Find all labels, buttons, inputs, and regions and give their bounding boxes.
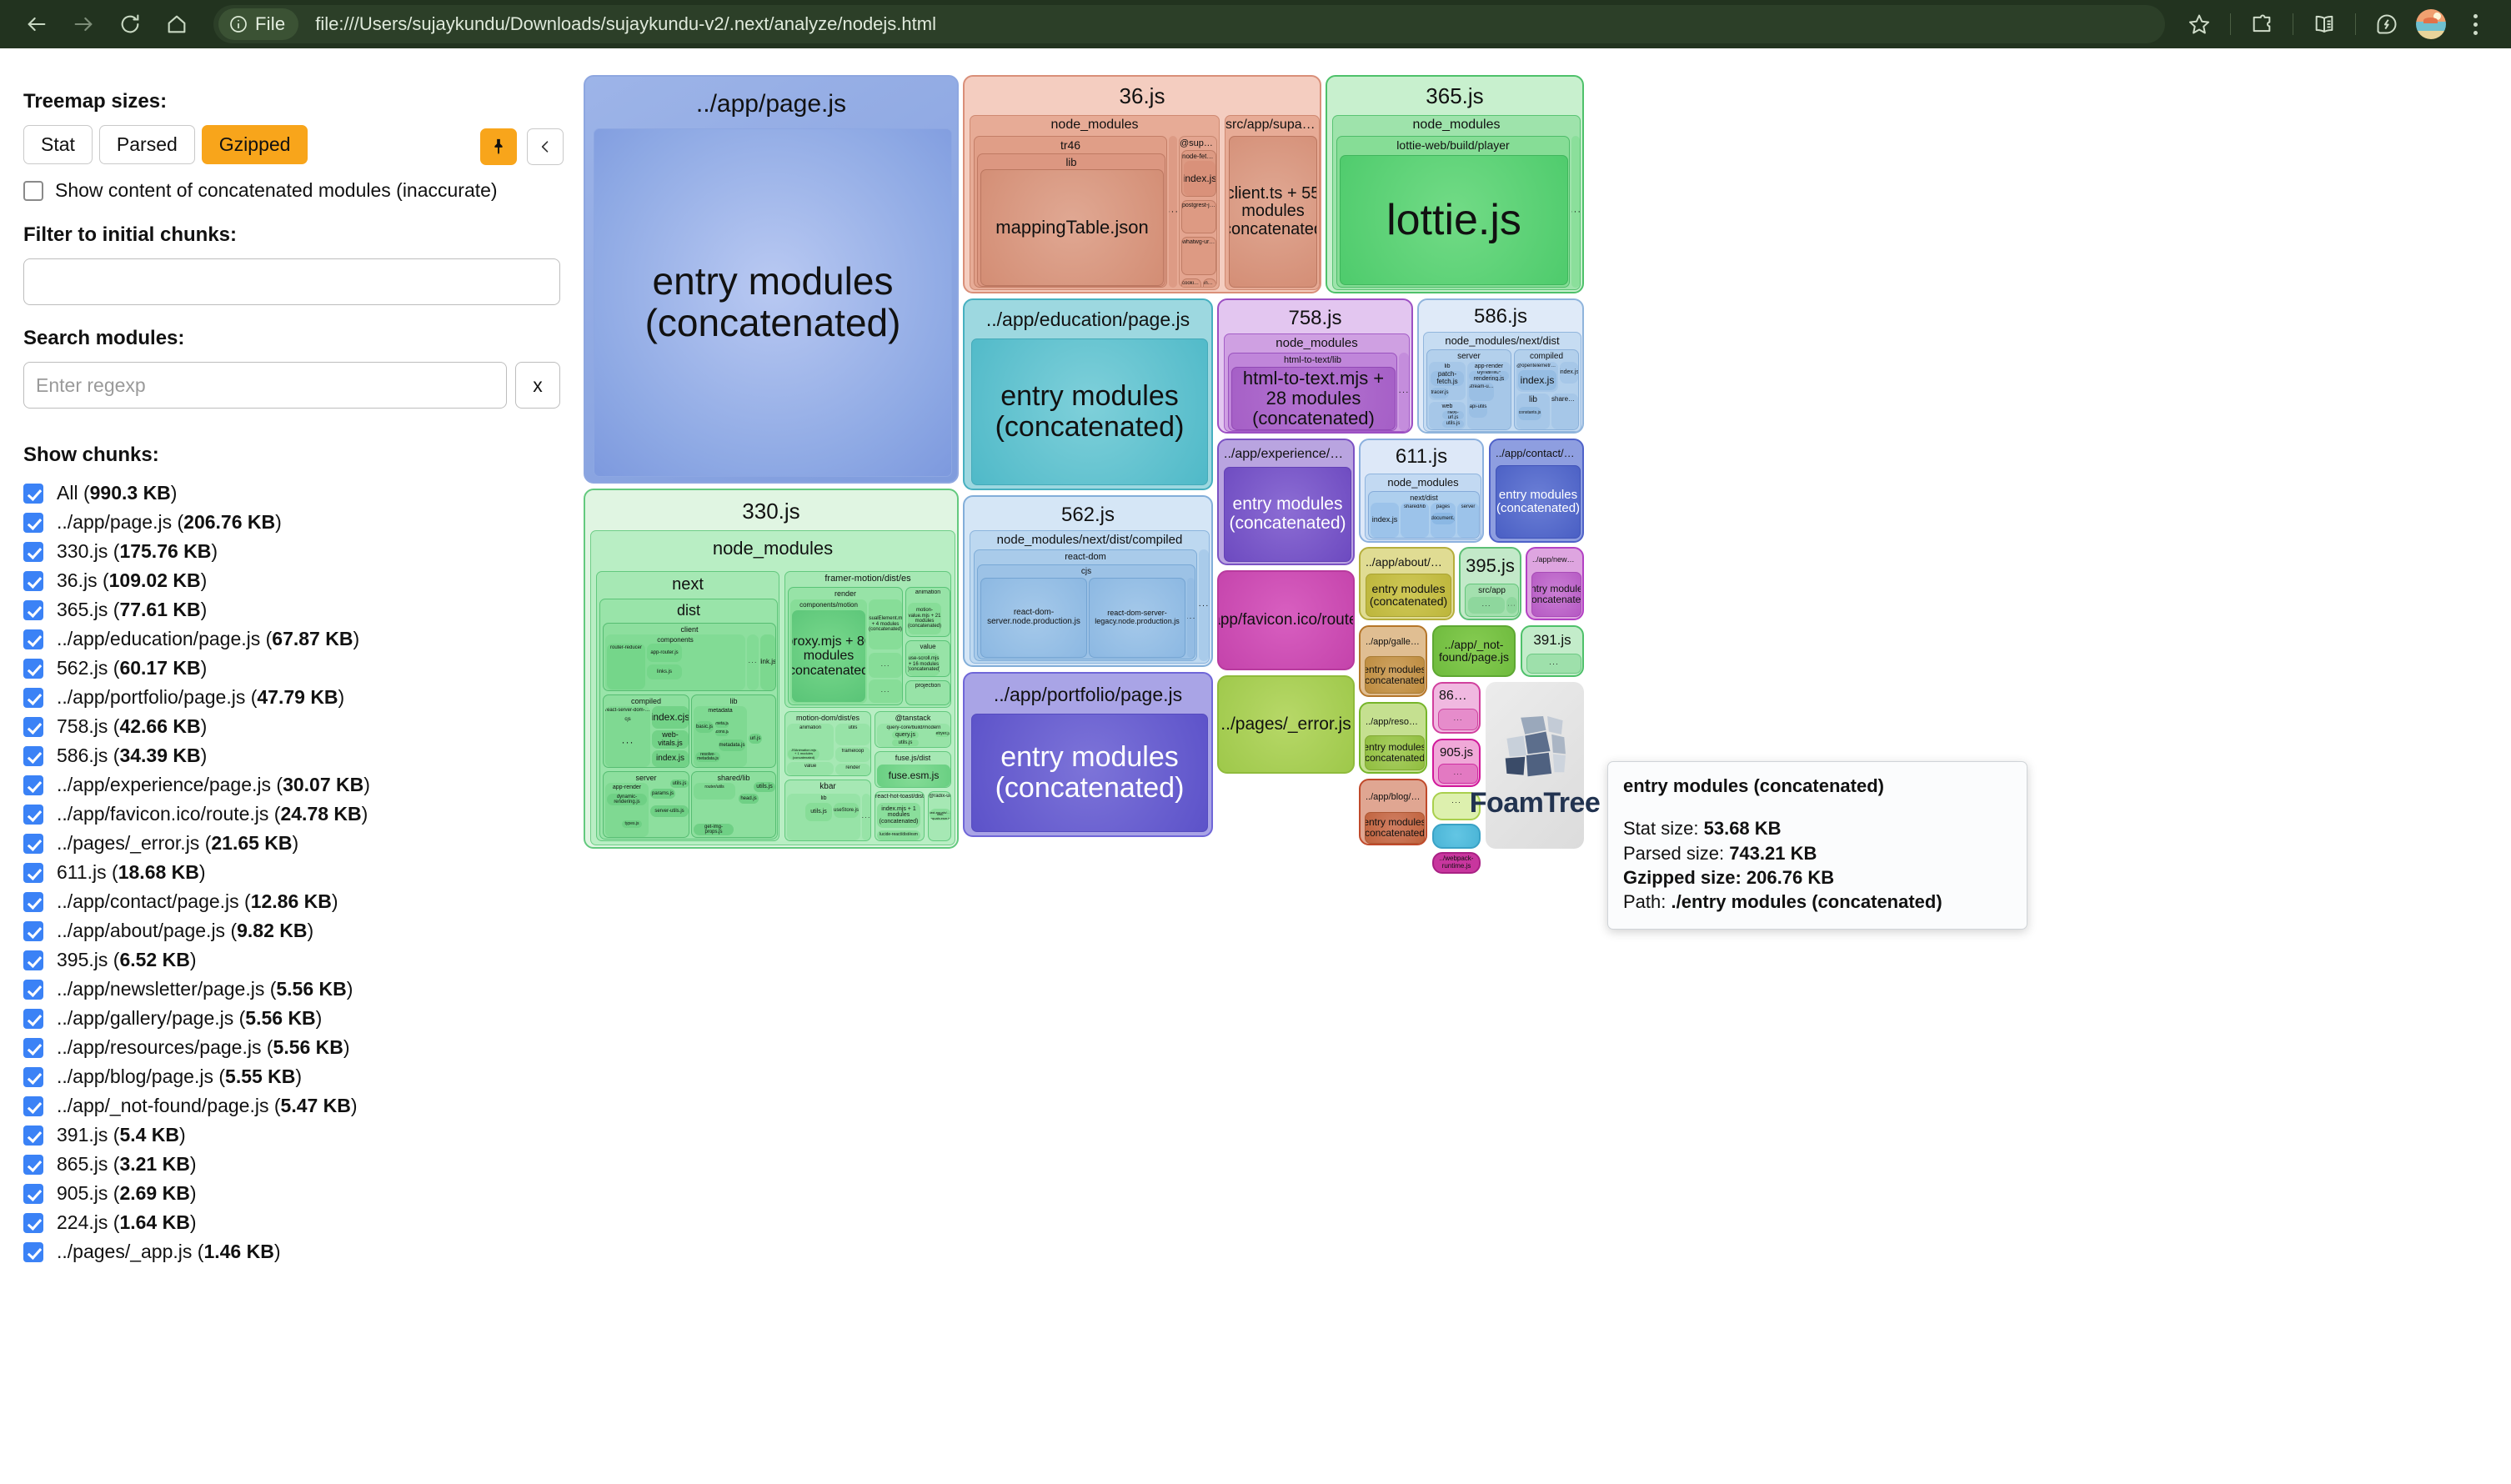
sub-motion-dom[interactable]: motion-dom/dist/es animation JSAnimation…: [784, 711, 871, 776]
chunk-row[interactable]: ../app/contact/page.js (12.86 KB): [23, 887, 560, 916]
sub-label: react-server-dom-webpack: [605, 708, 650, 713]
sub-components-motion[interactable]: components/motion proxy.mjs + 86 modules…: [790, 599, 867, 704]
sub-shared-lib[interactable]: shared/lib: [1401, 503, 1429, 538]
sub-label: _document.js: [1431, 513, 1455, 524]
chunk-label: 224.js (1.64 KB): [57, 1211, 196, 1234]
chunk-row[interactable]: ../app/blog/page.js (5.55 KB): [23, 1062, 560, 1091]
sub-pages[interactable]: pages _document.js: [1431, 503, 1456, 538]
sub-app-router[interactable]: app-router.js: [647, 644, 682, 662]
sub-src-app-supabase[interactable]: src/app/supabase client.ts + 55 modules …: [1225, 115, 1320, 290]
tooltip-gzipped-label: Gzipped size:: [1623, 867, 1742, 888]
sub-rsdw[interactable]: react-server-dom-webpack cjs ···: [605, 706, 650, 767]
sub-client-ts[interactable]: client.ts + 55 modules (concatenated): [1229, 136, 1317, 288]
sub-compiled-lib[interactable]: lib constants.js: [1516, 394, 1550, 429]
sub-compiled[interactable]: compiled react-server-dom-webpack cjs ··…: [603, 694, 689, 768]
sub-use-scroll[interactable]: use-scroll.mjs + 16 modules (concatenate…: [908, 653, 940, 676]
sub-cookie-dist[interactable]: cookie/dist: [1181, 278, 1201, 288]
treemap-tile-experience[interactable]: ../app/experience/page.js entry modules …: [1217, 439, 1355, 565]
sub-render[interactable]: render components/motion proxy.mjs + 86 …: [788, 587, 903, 705]
treemap-tile-36[interactable]: 36.js node_modules tr46 lib mappingTable…: [963, 75, 1321, 293]
chunk-size: 42.66 KB: [119, 715, 200, 737]
sub-web[interactable]: web next-url.js utils.js: [1429, 402, 1466, 429]
treemap-tile-favicon[interactable]: ../app/favicon.ico/route.js: [1217, 570, 1355, 670]
sub-animation[interactable]: animation motion-value.mjs + 21 modules …: [905, 587, 950, 637]
chunk-checkbox[interactable]: [23, 1038, 43, 1058]
chunk-checkbox[interactable]: [23, 688, 43, 708]
chunk-row[interactable]: ../app/education/page.js (67.87 KB): [23, 624, 560, 654]
sub-document-js[interactable]: _document.js: [1431, 513, 1455, 524]
sub-src-app[interactable]: src/app ··· ···: [1465, 584, 1519, 617]
sub-metadata[interactable]: metadata basic.js meta.js icons.js metad…: [694, 706, 747, 767]
chunk-row[interactable]: 224.js (1.64 KB): [23, 1208, 560, 1237]
size-button-stat[interactable]: Stat: [23, 125, 93, 164]
chunk-row[interactable]: ../pages/_app.js (1.46 KB): [23, 1237, 560, 1266]
chunk-row[interactable]: 330.js (175.76 KB): [23, 537, 560, 566]
star-icon[interactable]: [2178, 3, 2220, 45]
sub-api-utils[interactable]: api-utils: [1469, 403, 1487, 418]
kebab-menu-icon[interactable]: [2454, 3, 2496, 45]
show-concatenated-row[interactable]: Show content of concatenated modules (in…: [23, 179, 560, 202]
sub-retryer-js[interactable]: retryer.js: [935, 731, 950, 737]
chunk-row[interactable]: 395.js (6.52 KB): [23, 945, 560, 975]
chunk-row[interactable]: ../app/newsletter/page.js (5.56 KB): [23, 975, 560, 1004]
sub-entry-modules[interactable]: entry modules (concatenated): [971, 338, 1208, 485]
sub-entry-modules[interactable]: entry modules (concatenated): [1366, 574, 1451, 617]
book-icon[interactable]: [2303, 3, 2345, 45]
sub-label: use-scroll.mjs + 16 modules (concatenate…: [908, 653, 940, 676]
sub-server[interactable]: server lib patch-fetch.js tracer.js web …: [1426, 349, 1511, 430]
address-bar[interactable]: File file:///Users/sujaykundu/Downloads/…: [213, 5, 2165, 43]
sub-lib[interactable]: lib mappingTable.json: [977, 153, 1165, 287]
sub-url-js[interactable]: url.js: [749, 734, 762, 744]
chunk-label: ../pages/_app.js (1.46 KB): [57, 1241, 281, 1263]
chunk-row[interactable]: 562.js (60.17 KB): [23, 654, 560, 683]
sub-node-fetch[interactable]: node-fetch/lib index.js: [1181, 150, 1216, 197]
sub-utils-js2[interactable]: utils.js: [754, 782, 775, 792]
sub-entry-modules[interactable]: entry modules (concatenated): [1531, 572, 1581, 617]
sub-label: api-utils: [1469, 404, 1487, 409]
sub-radix[interactable]: @radix-ui fast-equals/dist fast-equals.e…: [928, 791, 951, 841]
chunk-checkbox[interactable]: [23, 775, 43, 795]
treemap-tile-611[interactable]: 611.js node_modules next/dist index.js s…: [1359, 439, 1484, 543]
chunk-checkbox[interactable]: [23, 1184, 43, 1204]
sub-react-dom-server-legacy[interactable]: react-dom-server-legacy.node.production.…: [1089, 578, 1185, 658]
sub-server[interactable]: server app-render dynamic-rendering.js p…: [603, 771, 689, 838]
chunk-checkbox[interactable]: [23, 980, 43, 1000]
sub-visual-element[interactable]: VisualElement.mjs + 4 modules (concatena…: [869, 599, 902, 649]
show-concatenated-checkbox[interactable]: [23, 181, 43, 201]
chunk-checkbox[interactable]: [23, 921, 43, 941]
sub-label: query-core/build/modern: [877, 725, 950, 730]
sub-shared-lib[interactable]: shared/lib router/utils head.js utils.js…: [691, 771, 776, 838]
sub-motion-value[interactable]: motion-value.mjs + 21 modules (concatena…: [908, 603, 941, 634]
sub-ellipsis[interactable]: ···: [1468, 597, 1505, 614]
sidebar-top-buttons: [480, 128, 564, 165]
sub-kbar-utils[interactable]: utils.js: [805, 803, 832, 821]
sub-ellipsis[interactable]: ···: [1169, 136, 1177, 288]
sub-stream-utils[interactable]: stream-utils: [1469, 383, 1494, 401]
sub-proxy-mjs[interactable]: proxy.mjs + 86 modules (concatenated): [792, 610, 865, 702]
sub-dynamic-rendering[interactable]: dynamic-rendering.js: [607, 794, 647, 805]
sub-lottie-js[interactable]: lottie.js: [1340, 155, 1568, 285]
sub-router-utils[interactable]: router/utils: [694, 783, 735, 800]
sub-lottie-path[interactable]: lottie-web/build/player lottie.js: [1336, 136, 1570, 288]
chevron-left-icon[interactable]: [527, 128, 564, 165]
chunk-row[interactable]: ../pages/_error.js (21.65 KB): [23, 829, 560, 858]
sub-rht-index[interactable]: index.mjs + 1 modules (concatenated): [877, 803, 920, 828]
avatar[interactable]: [2416, 9, 2446, 39]
sub-label: compiled: [1515, 352, 1578, 361]
tooltip-stat-value: 53.68 KB: [1704, 818, 1782, 839]
sub-md-utils[interactable]: utils: [835, 724, 870, 745]
sub-patch-fetch[interactable]: patch-fetch.js: [1431, 371, 1464, 386]
chunk-row[interactable]: ../app/resources/page.js (5.56 KB): [23, 1033, 560, 1062]
sub-ellipsis-2[interactable]: ···: [869, 679, 902, 703]
chunk-size: 9.82 KB: [237, 920, 307, 941]
size-button-parsed[interactable]: Parsed: [99, 125, 195, 164]
sub-label: web: [1429, 404, 1466, 409]
size-button-gzipped[interactable]: Gzipped: [202, 125, 308, 164]
sub-ellipsis[interactable]: ···: [1399, 353, 1409, 431]
sub-next-url[interactable]: next-url.js: [1442, 411, 1464, 419]
sub-links-js[interactable]: links.js: [647, 664, 682, 679]
chunk-label: 562.js (60.17 KB): [57, 657, 207, 679]
chunk-label: ../app/newsletter/page.js (5.56 KB): [57, 978, 353, 1000]
sub-html-to-text-lib[interactable]: html-to-text/lib html-to-text.mjs + 28 m…: [1228, 353, 1397, 431]
chunk-checkbox[interactable]: [23, 950, 43, 970]
chunk-row[interactable]: 758.js (42.66 KB): [23, 712, 560, 741]
chunk-label: ../app/favicon.ico/route.js (24.78 KB): [57, 803, 368, 825]
chunk-checkbox[interactable]: [23, 1242, 43, 1262]
sub-server[interactable]: server: [1457, 503, 1479, 538]
sub-client[interactable]: client components router-reducer app-rou…: [603, 623, 776, 691]
chunk-row[interactable]: 905.js (2.69 KB): [23, 1179, 560, 1208]
treemap-tile-391[interactable]: 391.js ···: [1521, 625, 1584, 677]
treemap-tile-education[interactable]: ../app/education/page.js entry modules (…: [963, 298, 1213, 490]
filter-chunks-input[interactable]: [23, 258, 560, 305]
sub-label: link.js: [760, 634, 775, 690]
tile-child-entry-modules[interactable]: entry modules (concatenated): [594, 128, 952, 477]
chunk-checkbox[interactable]: [23, 571, 43, 591]
browser-actions: [2178, 3, 2496, 45]
treemap-tile-905[interactable]: 905.js ···: [1432, 739, 1481, 787]
chunk-row[interactable]: ../app/page.js (206.76 KB): [23, 508, 560, 537]
sub-server-utils[interactable]: server-utils.js: [650, 805, 689, 817]
sub-node-modules-next-dist[interactable]: node_modules/next/dist server lib patch-…: [1423, 332, 1581, 432]
chunk-row[interactable]: 611.js (18.68 KB): [23, 858, 560, 887]
sub-kbar-lib[interactable]: lib utils.js useStore.js: [787, 794, 860, 840]
treemap-tile-newsletter[interactable]: ../app/newsletter/page.js entry modules …: [1526, 547, 1584, 620]
treemap-tile-app-page[interactable]: ../app/page.js entry modules (concatenat…: [584, 75, 959, 484]
sub-ellipsis[interactable]: ···: [869, 653, 902, 678]
chunk-checkbox[interactable]: [23, 717, 43, 737]
sub-get-img-props[interactable]: get-img-props.js: [694, 824, 734, 835]
tile-title: 36.js: [965, 83, 1320, 109]
chunk-checkbox[interactable]: [23, 834, 43, 854]
chunk-row[interactable]: 865.js (3.21 KB): [23, 1150, 560, 1179]
sub-tracer[interactable]: tracer.js: [1431, 388, 1449, 399]
sub-label: index.js: [1518, 370, 1556, 390]
sub-query-js[interactable]: query.js: [892, 731, 919, 739]
treemap-tile-562[interactable]: 562.js node_modules/next/dist/compiled r…: [963, 495, 1213, 667]
file-origin-chip[interactable]: File: [218, 8, 298, 40]
sub-label: utils.js: [1442, 420, 1464, 428]
chunk-row[interactable]: 586.js (34.39 KB): [23, 741, 560, 770]
sub-label: client.ts + 55 modules (concatenated): [1230, 137, 1316, 287]
chunk-checkbox[interactable]: [23, 805, 43, 825]
sub-web-vitals[interactable]: web-vitals.js: [652, 730, 689, 749]
sub-dynamic-rendering[interactable]: dynamic-rendering.js: [1469, 371, 1509, 381]
sub-react-dom[interactable]: react-dom cjs react-dom-server.node.prod…: [974, 549, 1197, 661]
sub-label: motion-dom/dist/es: [785, 714, 870, 722]
sub-node-modules-compiled[interactable]: node_modules/next/dist/compiled react-do…: [970, 530, 1210, 664]
chunk-checkbox[interactable]: [23, 863, 43, 883]
sub-postgrest[interactable]: postgrest-js/dist/cjs: [1181, 200, 1216, 233]
sub-metadata-js[interactable]: metadata.js: [719, 739, 745, 751]
sub-resolve-metadata[interactable]: resolve-metadata.js: [695, 752, 720, 762]
sub-label: utils.js: [805, 803, 832, 821]
sub-react-hot-toast[interactable]: react-hot-toast/dist index.mjs + 1 modul…: [875, 791, 925, 841]
sub-fast-equals[interactable]: fast-equals/dist fast-equals.esm.js: [930, 809, 951, 820]
sub-label: index.js: [652, 750, 689, 767]
treemap-tile-about[interactable]: ../app/about/page.js entry modules (conc…: [1359, 547, 1455, 620]
chunk-row[interactable]: ../app/portfolio/page.js (47.79 KB): [23, 683, 560, 712]
sub-basic-js[interactable]: basic.js: [695, 721, 714, 733]
pin-icon[interactable]: [480, 128, 517, 165]
treemap-tile-395[interactable]: 395.js src/app ··· ···: [1459, 547, 1521, 620]
treemap-tile-gallery[interactable]: ../app/gallery/page.js entry modules (co…: [1359, 625, 1427, 697]
sub-entry-modules[interactable]: entry modules (concatenated): [971, 714, 1208, 832]
module-tooltip: entry modules (concatenated) Stat size: …: [1607, 761, 2027, 930]
sub-label: server: [1457, 504, 1479, 509]
sub-node-modules[interactable]: node_modules lottie-web/build/player lot…: [1332, 115, 1581, 290]
sub-value[interactable]: value use-scroll.mjs + 16 modules (conca…: [905, 640, 950, 677]
chunk-checkbox[interactable]: [23, 1213, 43, 1233]
sub-utils-js[interactable]: utils.js: [1442, 420, 1464, 428]
sub-ellipsis[interactable]: ···: [1526, 654, 1581, 674]
sub-entry-modules[interactable]: entry modules (concatenated): [1365, 735, 1425, 770]
sub-types-js[interactable]: types.js: [622, 820, 642, 828]
sub-shared-lib[interactable]: shared/lib: [1551, 394, 1578, 429]
sub-label: web-vitals.js: [652, 730, 689, 749]
sub-index-js[interactable]: index.js: [1518, 370, 1556, 390]
treemap-tile-365[interactable]: 365.js node_modules lottie-web/build/pla…: [1326, 75, 1584, 293]
search-modules-row: x: [23, 362, 560, 409]
sub-router-reducer[interactable]: router-reducer: [607, 644, 645, 689]
sub-link-js[interactable]: link.js: [760, 634, 775, 690]
sub-tq-utils[interactable]: utils.js: [892, 739, 919, 746]
reload-icon[interactable]: [108, 3, 152, 46]
sub-label: whatwg-url/lib: [1182, 239, 1215, 245]
chunk-row[interactable]: All (990.3 KB): [23, 479, 560, 508]
sub-ellipsis[interactable]: ···: [1571, 136, 1580, 288]
sub-otel[interactable]: @opentelemetry/api index.js: [1516, 362, 1558, 392]
sub-md-animation[interactable]: animation JSAnimation.mjs + 1 modules (c…: [787, 724, 834, 760]
sub-constants-js[interactable]: constants.js: [1518, 407, 1541, 420]
forward-arrow-icon[interactable]: [62, 3, 105, 46]
sub-label: lib: [1429, 363, 1466, 369]
treemap-tile-error-page[interactable]: ../pages/_error.js: [1217, 675, 1355, 774]
home-icon[interactable]: [155, 3, 198, 46]
sub-otel-index[interactable]: index.js: [1560, 362, 1578, 384]
sub-entry-modules[interactable]: entry modules (concatenated): [1496, 465, 1581, 539]
sub-head-js[interactable]: head.js: [739, 794, 759, 804]
tile-title: ../app/page.js: [585, 90, 957, 118]
sub-dist[interactable]: dist client components router-reducer ap…: [599, 599, 778, 840]
sub-icons-js[interactable]: icons.js: [715, 729, 729, 736]
sub-ellipsis[interactable]: ···: [747, 634, 759, 690]
sub-supabase-ns[interactable]: @supabase node-fetch/lib index.js postgr…: [1179, 136, 1217, 288]
treemap-tile-small-blue[interactable]: [1432, 824, 1481, 849]
sub-components[interactable]: components router-reducer app-router.js …: [605, 634, 745, 690]
chunk-checkbox[interactable]: [23, 659, 43, 679]
sub-tanstack[interactable]: @tanstack query-core/build/modern query.…: [875, 711, 951, 748]
sub-ellipsis[interactable]: ···: [1438, 764, 1478, 784]
treemap-tile-contact[interactable]: ../app/contact/page.js entry modules (co…: [1489, 439, 1584, 543]
tile-title: ../webpack-runtime.js: [1434, 854, 1479, 872]
chunk-size: 34.39 KB: [119, 745, 200, 766]
sub-use-store[interactable]: useStore.js: [834, 803, 859, 818]
chunk-row[interactable]: 391.js (5.4 KB): [23, 1121, 560, 1150]
sub-app-render[interactable]: app-render dynamic-rendering.js: [605, 783, 649, 837]
sub-label: entry modules (concatenated): [1366, 657, 1424, 693]
chunk-checkbox[interactable]: [23, 484, 43, 504]
chunk-row[interactable]: 36.js (109.02 KB): [23, 566, 560, 595]
sub-label: fast-equals.esm.js: [930, 813, 951, 820]
sub-index-js[interactable]: index.js: [652, 750, 689, 767]
sub-ellipsis-2[interactable]: ···: [1506, 597, 1517, 614]
chunk-checkbox[interactable]: [23, 1155, 43, 1175]
sub-node-modules[interactable]: node_modules next dist client components…: [590, 530, 955, 845]
tooltip-path-label: Path:: [1623, 891, 1666, 912]
tile-child-label: entry modules (concatenated): [594, 129, 951, 476]
treemap-tile-865[interactable]: 865.js ···: [1432, 682, 1481, 734]
sub-ellipsis[interactable]: ···: [1438, 709, 1478, 730]
treemap-tile-portfolio[interactable]: ../app/portfolio/page.js entry modules (…: [963, 672, 1213, 837]
treemap-canvas[interactable]: ../app/page.js entry modules (concatenat…: [584, 48, 2511, 1484]
sub-next-dist[interactable]: next/dist index.js shared/lib pages _doc…: [1368, 491, 1480, 539]
sub-compiled[interactable]: compiled @opentelemetry/api index.js ind…: [1514, 349, 1579, 430]
sub-next[interactable]: next dist client components router-reduc…: [596, 571, 779, 841]
sub-whatwg-url[interactable]: whatwg-url/lib: [1181, 237, 1216, 275]
chunk-checkbox[interactable]: [23, 746, 43, 766]
chunk-row[interactable]: ../app/experience/page.js (30.07 KB): [23, 770, 560, 800]
chunk-row[interactable]: 365.js (77.61 KB): [23, 595, 560, 624]
chunk-checkbox[interactable]: [23, 542, 43, 562]
chunk-checkbox[interactable]: [23, 513, 43, 533]
sub-react-dom-server-prod[interactable]: react-dom-server.node.production.js: [980, 578, 1087, 658]
sub-label: kbar: [785, 782, 870, 791]
chunk-checkbox[interactable]: [23, 1096, 43, 1116]
treemap-tile-blog[interactable]: ../app/blog/page.js entry modules (conca…: [1359, 779, 1427, 845]
sub-md-value[interactable]: value: [787, 762, 834, 775]
sub-label: react-dom: [975, 552, 1196, 562]
puzzle-piece-icon[interactable]: [2241, 3, 2283, 45]
sub-ellipsis[interactable]: ···: [862, 794, 870, 840]
chunk-row[interactable]: ../app/about/page.js (9.82 KB): [23, 916, 560, 945]
treemap-tile-resources[interactable]: ../app/resources/page.js entry modules (…: [1359, 702, 1427, 774]
sub-lucide[interactable]: lucide-react/dist/esm: [877, 830, 920, 840]
sub-ellipsis-3[interactable]: ···: [1199, 549, 1209, 661]
sub-label: lib: [787, 795, 860, 801]
chunk-checkbox[interactable]: [23, 600, 43, 620]
search-modules-input[interactable]: [23, 362, 507, 409]
sub-label: server-utils.js: [650, 805, 689, 817]
sub-index-cjs[interactable]: index.cjs: [652, 706, 689, 729]
chunk-row[interactable]: ../app/gallery/page.js (5.56 KB): [23, 1004, 560, 1033]
clear-search-button[interactable]: x: [515, 362, 560, 409]
sub-label: head.js: [739, 794, 759, 804]
sub-md-render[interactable]: render: [835, 764, 870, 775]
sub-label: VisualElement.mjs + 4 modules (concatena…: [869, 599, 902, 649]
chunk-checkbox[interactable]: [23, 629, 43, 649]
sub-label: proxy.mjs + 86 modules (concatenated): [792, 610, 865, 702]
sub-projection[interactable]: projection: [905, 680, 950, 705]
chunk-checkbox[interactable]: [23, 1126, 43, 1146]
back-arrow-icon[interactable]: [15, 3, 58, 46]
treemap-tile-758[interactable]: 758.js node_modules html-to-text/lib htm…: [1217, 298, 1413, 434]
chunk-checkbox[interactable]: [23, 1009, 43, 1029]
tooltip-path-value: ./entry modules (concatenated): [1671, 891, 1942, 912]
sub-label: compiled: [604, 697, 689, 705]
sub-framer-motion[interactable]: framer-motion/dist/es render components/…: [784, 571, 951, 708]
sub-meta-js[interactable]: meta.js: [715, 721, 729, 728]
sub-query-core[interactable]: query-core/build/modern query.js utils.j…: [877, 724, 950, 747]
sub-fuse-esm[interactable]: fuse.esm.js: [877, 765, 950, 787]
treemap-tile-330[interactable]: 330.js node_modules next dist client com…: [584, 489, 959, 849]
chunk-list: All (990.3 KB)../app/page.js (206.76 KB)…: [23, 479, 560, 1266]
energy-saver-leaf-icon[interactable]: [2366, 3, 2408, 45]
sub-node-modules[interactable]: node_modules html-to-text/lib html-to-te…: [1224, 333, 1410, 432]
chunk-checkbox[interactable]: [23, 892, 43, 912]
sub-fuse-dist[interactable]: fuse.js/dist fuse.esm.js: [875, 751, 951, 788]
sub-lib[interactable]: lib metadata basic.js meta.js icons.js m…: [691, 694, 776, 768]
sub-label: render: [789, 589, 902, 598]
chunk-checkbox[interactable]: [23, 1067, 43, 1087]
treemap-tile-586[interactable]: 586.js node_modules/next/dist server lib…: [1417, 298, 1584, 434]
sub-entry-modules[interactable]: entry modules (concatenated): [1224, 467, 1351, 562]
sub-node-modules[interactable]: node_modules next/dist index.js shared/l…: [1365, 474, 1481, 540]
sub-lib[interactable]: lib patch-fetch.js tracer.js: [1429, 362, 1466, 400]
chunk-row[interactable]: ../app/_not-found/page.js (5.47 KB): [23, 1091, 560, 1121]
treemap-tile-not-found[interactable]: ../app/_not-found/page.js: [1432, 625, 1516, 677]
sub-node-modules[interactable]: node_modules tr46 lib mappingTable.json …: [970, 115, 1220, 290]
sub-app-render[interactable]: app-render dynamic-rendering.js stream-u…: [1467, 362, 1511, 429]
chunk-label: 365.js (77.61 KB): [57, 599, 207, 621]
sub-cjs[interactable]: cjs react-dom-server.node.production.js …: [977, 564, 1195, 659]
sub-tr46[interactable]: tr46 lib mappingTable.json: [974, 136, 1167, 288]
sub-entry-modules[interactable]: entry modules (concatenated): [1365, 656, 1425, 694]
sub-cookie-index2[interactable]: index.js: [1203, 278, 1216, 288]
sub-label: query.js: [892, 731, 919, 739]
treemap-tile-webpack-runtime[interactable]: ../webpack-runtime.js: [1432, 852, 1481, 874]
sub-entry-modules[interactable]: entry modules (concatenated): [1365, 812, 1425, 844]
sub-index-js[interactable]: index.js: [1371, 503, 1399, 538]
sub-utils-js[interactable]: utils.js: [670, 780, 689, 788]
tile-title: ../app/resources/page.js: [1361, 717, 1426, 727]
sub-label: html-to-text/lib: [1229, 355, 1396, 365]
sub-html-to-text[interactable]: html-to-text.mjs + 28 modules (concatena…: [1231, 367, 1396, 430]
chunk-row[interactable]: ../app/favicon.ico/route.js (24.78 KB): [23, 800, 560, 829]
sub-mapping-table[interactable]: mappingTable.json: [980, 169, 1164, 286]
sub-node-fetch-index[interactable]: index.js: [1184, 161, 1215, 196]
sub-kbar[interactable]: kbar lib utils.js useStore.js ···: [784, 780, 871, 841]
sub-params-js[interactable]: params.js: [650, 789, 675, 799]
chunk-size: 30.07 KB: [283, 774, 363, 795]
sub-ellipsis[interactable]: ···: [1187, 578, 1195, 658]
sub-jsanimation[interactable]: JSAnimation.mjs + 1 modules (concatenate…: [788, 749, 819, 760]
sub-frameloop[interactable]: frameloop: [835, 747, 870, 762]
